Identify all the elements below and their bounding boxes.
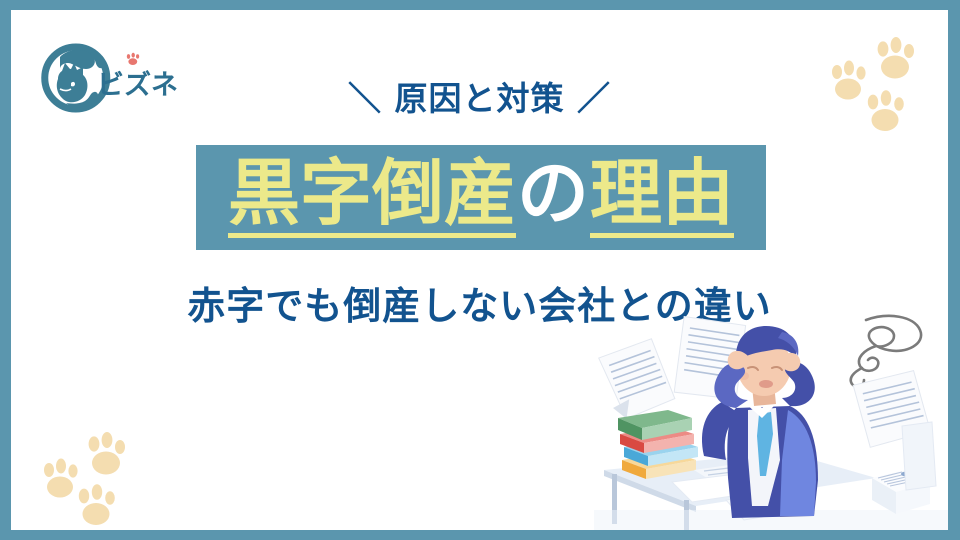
main-title: 黒字倒産 の 理由: [228, 157, 734, 238]
paw-print-icon: [878, 37, 914, 79]
book-stack: [618, 410, 698, 479]
flying-paper: [598, 337, 677, 421]
paw-print-icon: [89, 432, 125, 475]
paw-print-icon: [127, 53, 139, 65]
paw-print-icon: [79, 484, 115, 525]
title-segment-3: 理由: [590, 157, 734, 238]
paw-print-icon: [44, 459, 78, 498]
title-band: 黒字倒産 の 理由: [196, 145, 766, 250]
stressed-businessman-illustration: [576, 310, 948, 530]
thumbnail-card: ビズネコ ＼ 原因と対策 ／ 黒字倒産 の 理由 赤字でも倒産しない会社との違い: [0, 0, 960, 540]
paw-print-cluster-bottom-left: [36, 422, 166, 530]
title-segment-2: の: [516, 157, 590, 229]
standing-paper: [902, 422, 936, 490]
card-inner-surface: ビズネコ ＼ 原因と対策 ／ 黒字倒産 の 理由 赤字でも倒産しない会社との違い: [11, 10, 948, 530]
eyebrow-text: ＼ 原因と対策 ／: [11, 72, 948, 120]
title-segment-1: 黒字倒産: [228, 157, 516, 238]
paw-print-icon: [868, 90, 904, 131]
paw-print-cluster-top-right: [821, 32, 941, 147]
paw-print-icon: [832, 61, 866, 100]
